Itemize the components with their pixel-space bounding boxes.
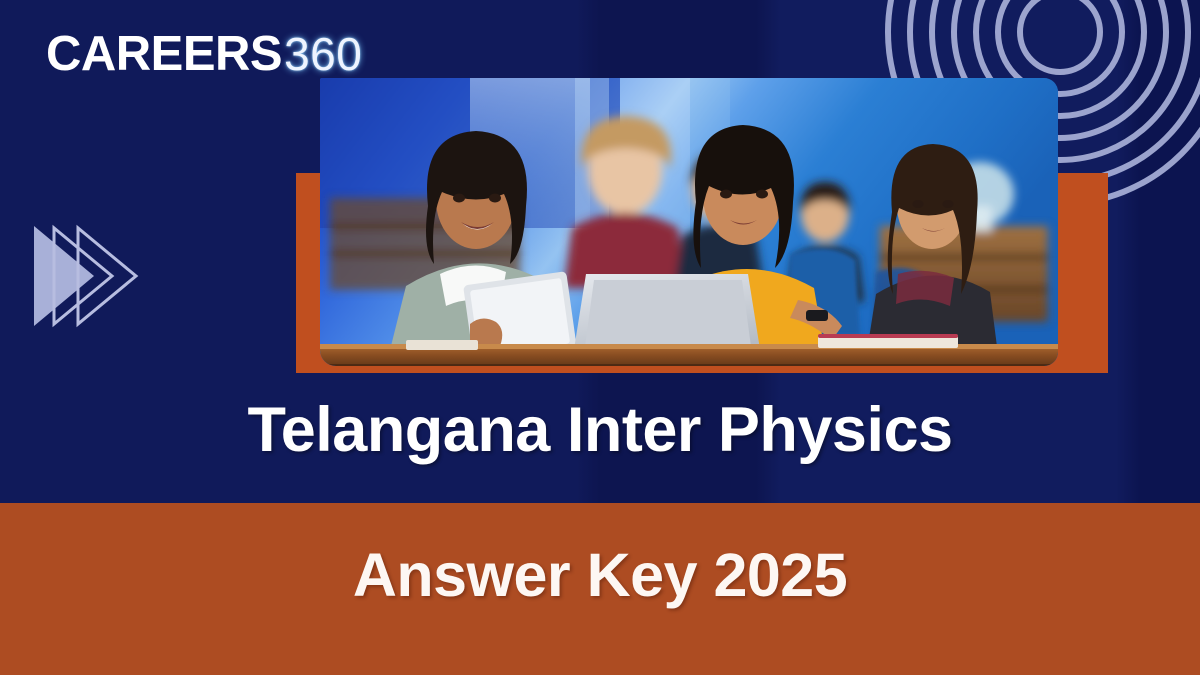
headline-line-1: Telangana Inter Physics [0,399,1200,462]
hero-photo [320,78,1058,366]
chevron-filled-icon [34,226,94,326]
careers360-logo[interactable]: CAREERS 360 [46,30,362,79]
promo-banner: CAREERS 360 Telangana Inter Physics Answ… [0,0,1200,675]
headline-line-2: Answer Key 2025 [0,545,1200,606]
logo-360-text: 360 [284,31,362,77]
triple-chevron-decoration [32,222,160,330]
logo-careers-text: CAREERS [46,30,282,79]
